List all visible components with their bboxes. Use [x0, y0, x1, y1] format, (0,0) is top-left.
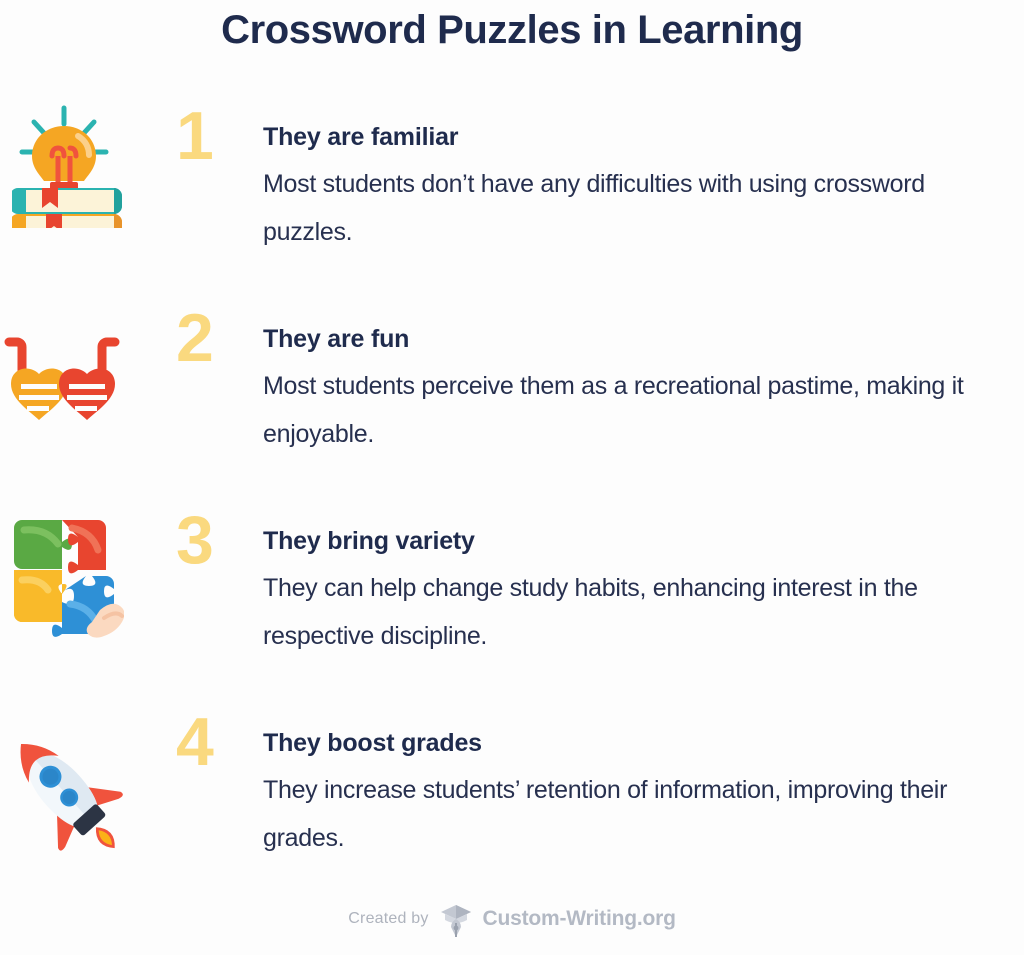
item-heading: They boost grades — [263, 728, 1003, 758]
jigsaw-puzzle-hand-icon — [0, 504, 140, 654]
list-item: 4 They boost grades They increase studen… — [0, 706, 1024, 906]
item-body: They can help change study habits, enhan… — [263, 564, 1003, 660]
graduation-cap-pen-nib-logo — [439, 901, 473, 937]
item-body: Most students perceive them as a recreat… — [263, 362, 1003, 458]
footer-created-by-label: Created by — [348, 910, 428, 928]
item-number: 3 — [176, 506, 238, 574]
item-text-block: They bring variety They can help change … — [263, 526, 1003, 660]
list-item: 3 They bring variety They can help chang… — [0, 504, 1024, 704]
item-heading: They bring variety — [263, 526, 1003, 556]
list-item: 1 They are familiar Most students don’t … — [0, 100, 1024, 300]
item-text-block: They are fun Most students perceive them… — [263, 324, 1003, 458]
item-number: 4 — [176, 708, 238, 776]
page-title: Crossword Puzzles in Learning — [0, 8, 1024, 53]
item-body: Most students don’t have any difficultie… — [263, 160, 1003, 256]
lightbulb-books-icon — [0, 100, 140, 250]
item-heading: They are fun — [263, 324, 1003, 354]
item-number: 2 — [176, 304, 238, 372]
item-heading: They are familiar — [263, 122, 1003, 152]
footer-credit: Created by Custom-Writing.org — [0, 901, 1024, 937]
item-number: 1 — [176, 102, 238, 170]
heart-glasses-icon — [0, 302, 140, 452]
list-item: 2 They are fun Most students perceive th… — [0, 302, 1024, 502]
item-body: They increase students’ retention of inf… — [263, 766, 1003, 862]
rocket-icon — [0, 706, 140, 856]
item-text-block: They are familiar Most students don’t ha… — [263, 122, 1003, 256]
item-text-block: They boost grades They increase students… — [263, 728, 1003, 862]
infographic-canvas: Crossword Puzzles in Learning — [0, 0, 1024, 955]
footer-brand-name: Custom-Writing.org — [483, 907, 676, 931]
